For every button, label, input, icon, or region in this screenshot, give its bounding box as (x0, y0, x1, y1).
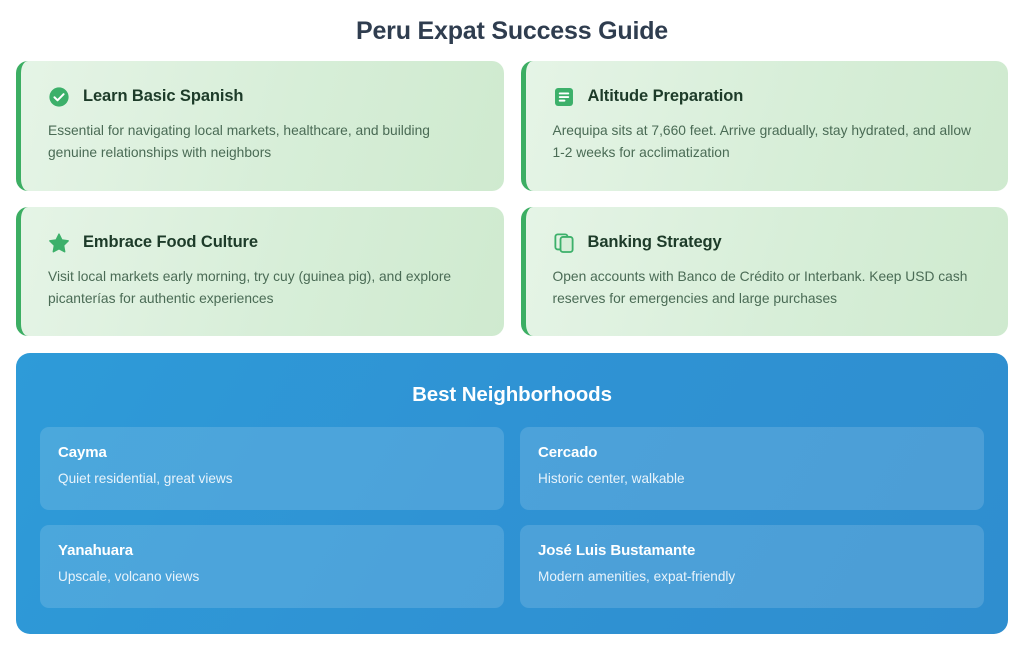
neighborhood-name: Cayma (58, 444, 484, 461)
tip-title: Banking Strategy (588, 233, 722, 253)
tip-card-altitude-preparation: Altitude Preparation Arequipa sits at 7,… (521, 61, 1009, 191)
star-icon (48, 232, 70, 254)
tip-header: Learn Basic Spanish (48, 86, 480, 108)
neighborhood-name: Yanahuara (58, 542, 484, 559)
neighborhood-card-jose-luis-bustamante: José Luis Bustamante Modern amenities, e… (520, 525, 984, 608)
copy-icon (553, 232, 575, 254)
tip-card-banking-strategy: Banking Strategy Open accounts with Banc… (521, 207, 1009, 337)
neighborhood-description: Upscale, volcano views (58, 568, 484, 586)
document-lines-icon (553, 86, 575, 108)
tip-title: Embrace Food Culture (83, 233, 258, 253)
tip-title: Altitude Preparation (588, 87, 744, 107)
neighborhood-card-cayma: Cayma Quiet residential, great views (40, 427, 504, 510)
tip-description: Arequipa sits at 7,660 feet. Arrive grad… (553, 120, 983, 165)
neighborhood-description: Historic center, walkable (538, 470, 964, 488)
neighborhoods-heading: Best Neighborhoods (40, 375, 984, 427)
tips-grid: Learn Basic Spanish Essential for naviga… (16, 61, 1008, 336)
tip-card-embrace-food-culture: Embrace Food Culture Visit local markets… (16, 207, 504, 337)
guide-page: Peru Expat Success Guide Learn Basic Spa… (0, 0, 1024, 666)
neighborhoods-grid: Cayma Quiet residential, great views Cer… (40, 427, 984, 608)
tip-header: Banking Strategy (553, 232, 985, 254)
best-neighborhoods-panel: Best Neighborhoods Cayma Quiet residenti… (16, 353, 1008, 634)
page-title: Peru Expat Success Guide (16, 0, 1008, 61)
neighborhood-description: Quiet residential, great views (58, 470, 484, 488)
neighborhood-description: Modern amenities, expat-friendly (538, 568, 964, 586)
tip-description: Essential for navigating local markets, … (48, 120, 478, 165)
neighborhood-card-cercado: Cercado Historic center, walkable (520, 427, 984, 510)
neighborhood-name: José Luis Bustamante (538, 542, 964, 559)
tip-card-learn-basic-spanish: Learn Basic Spanish Essential for naviga… (16, 61, 504, 191)
check-circle-icon (48, 86, 70, 108)
tip-description: Visit local markets early morning, try c… (48, 266, 478, 311)
neighborhood-name: Cercado (538, 444, 964, 461)
neighborhood-card-yanahuara: Yanahuara Upscale, volcano views (40, 525, 504, 608)
tip-description: Open accounts with Banco de Crédito or I… (553, 266, 983, 311)
tip-header: Embrace Food Culture (48, 232, 480, 254)
tip-header: Altitude Preparation (553, 86, 985, 108)
tip-title: Learn Basic Spanish (83, 87, 243, 107)
